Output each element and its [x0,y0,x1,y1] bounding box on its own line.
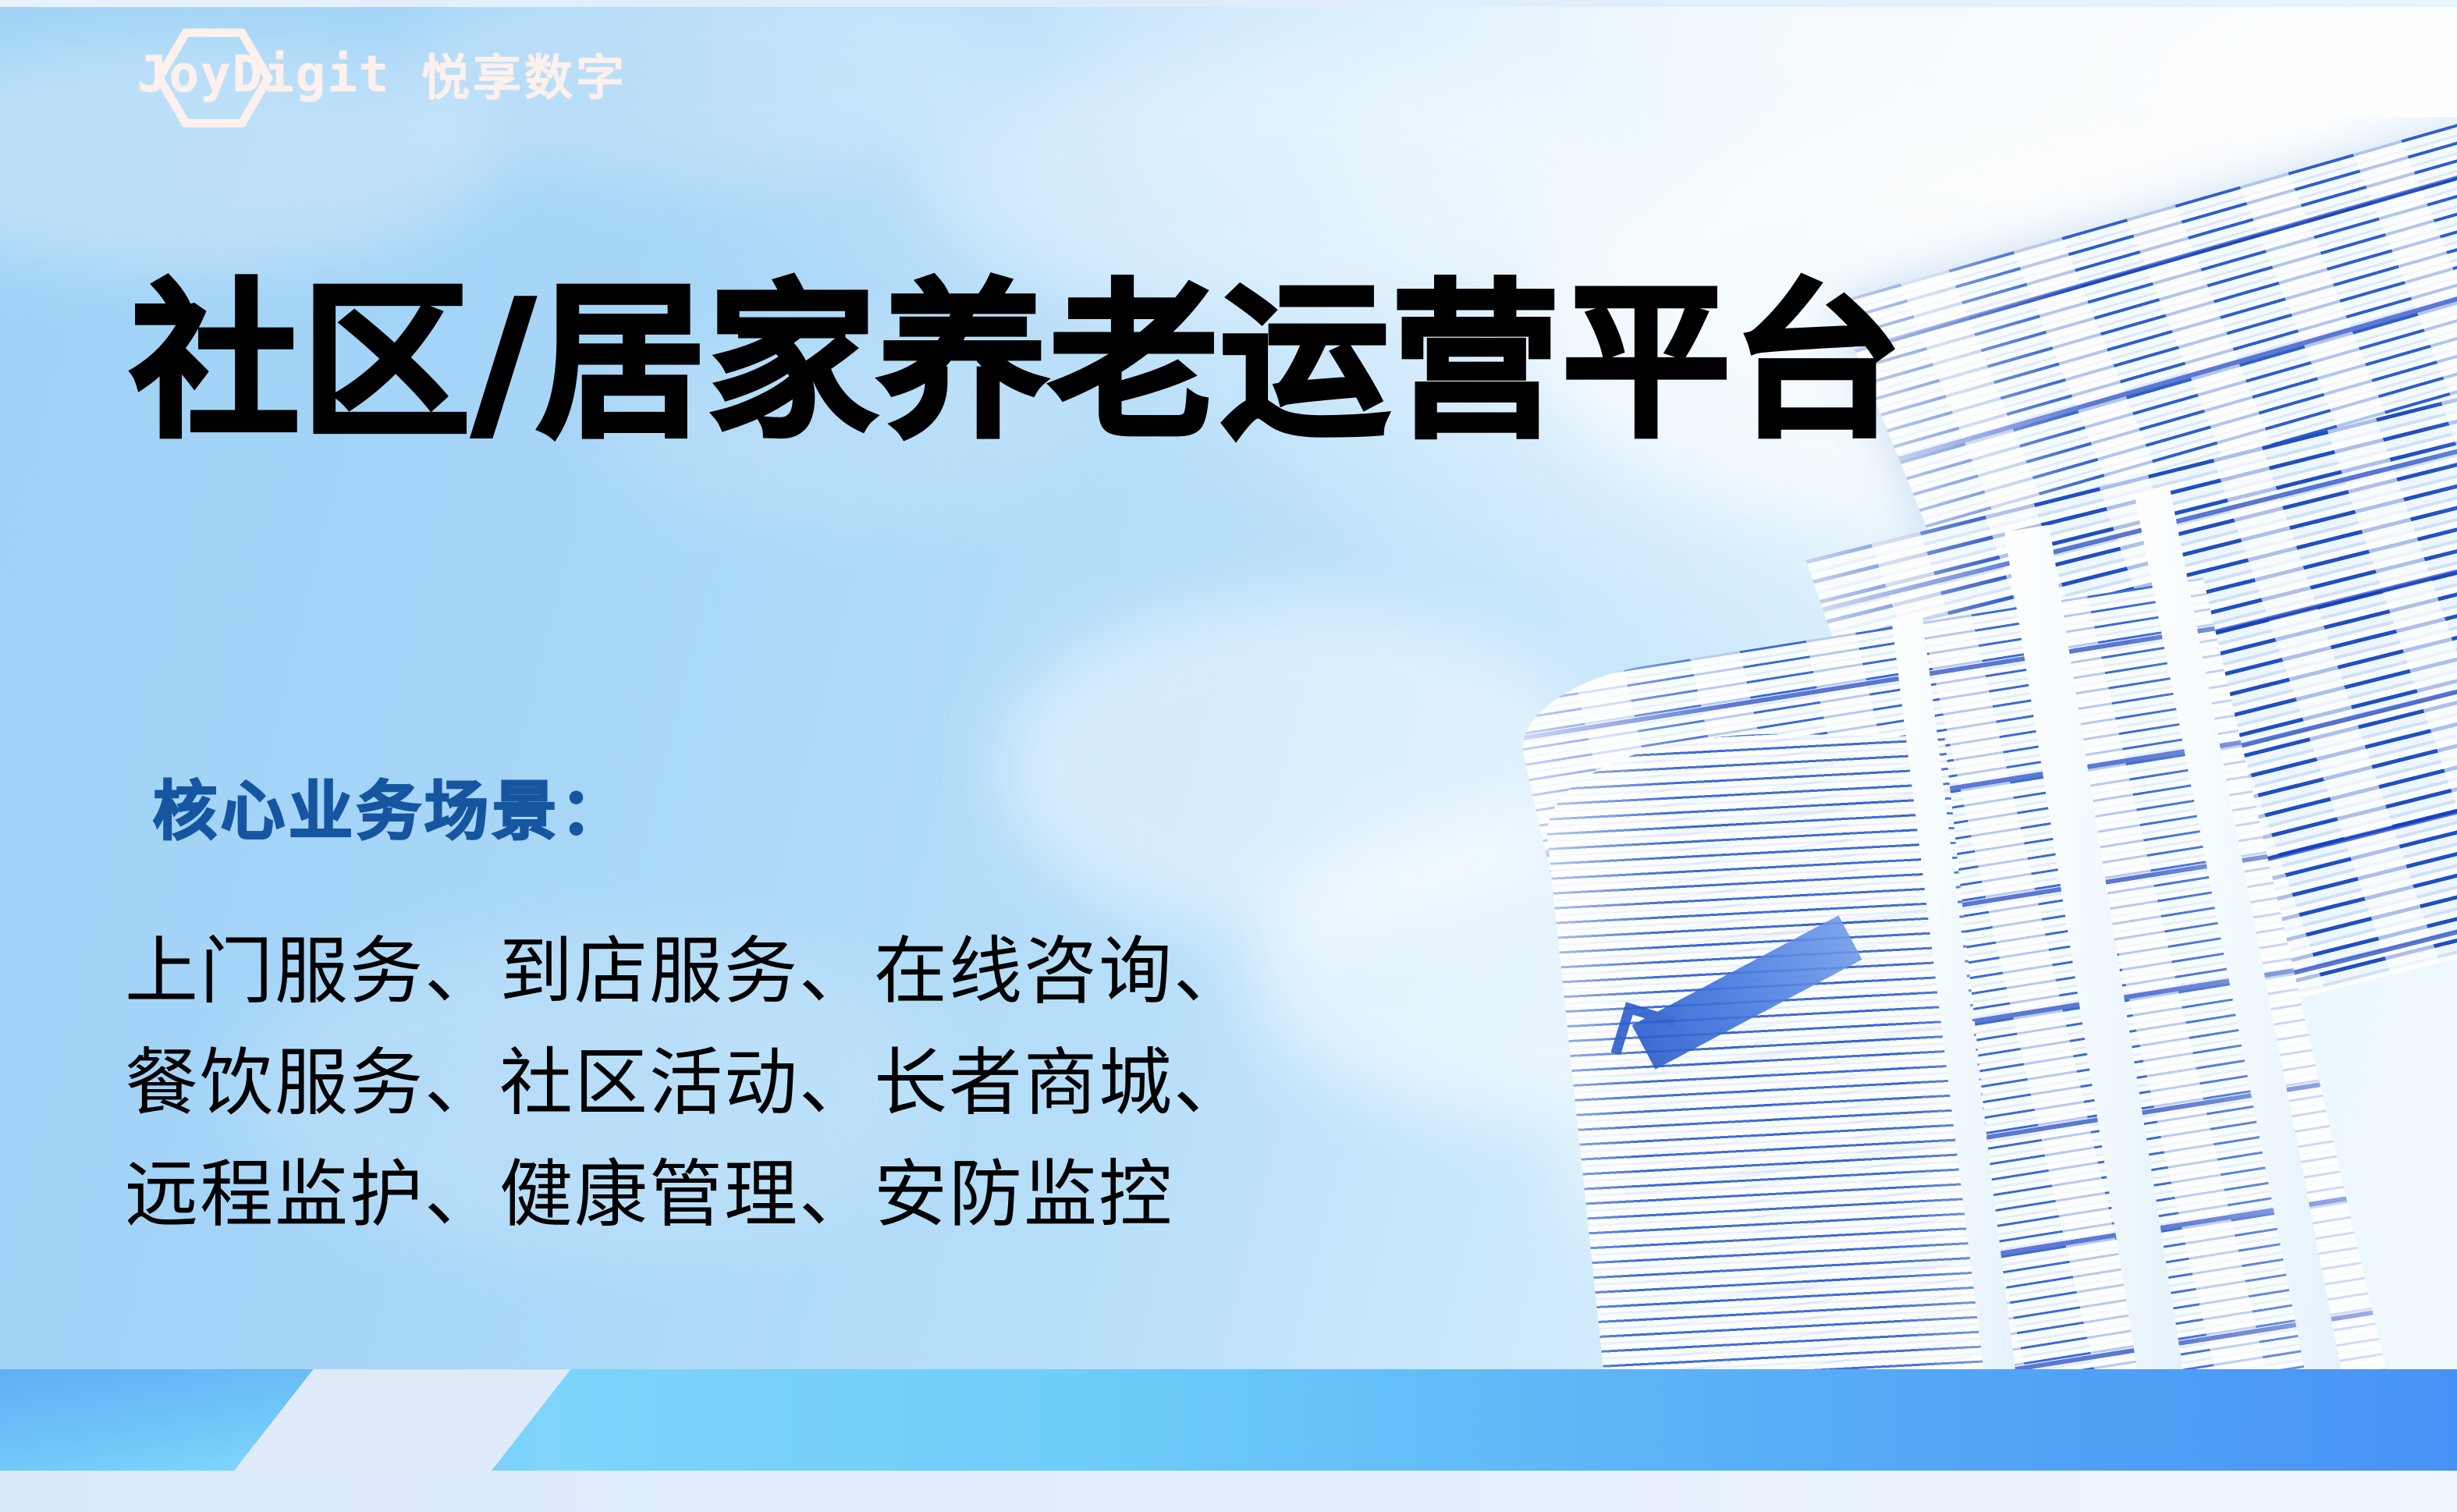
top-edge-strip [0,0,2457,7]
scene-line: 远程监护、健康管理、安防监控 [125,1140,1248,1251]
scene-list: 上门服务、到店服务、在线咨询、 餐饮服务、社区活动、长者商城、 远程监护、健康管… [125,917,1248,1251]
slide-canvas: JoyDigit 悦享数字 社区/居家养老运营平台 核心业务场景： 上门服务、到… [0,0,2457,1512]
brand-logo: JoyDigit 悦享数字 [137,30,627,126]
logo-mark: JoyDigit [137,30,399,126]
scene-line: 餐饮服务、社区活动、长者商城、 [125,1028,1248,1140]
page-title: 社区/居家养老运营平台 [131,275,1905,451]
logo-wordmark: JoyDigit [137,50,390,100]
section-label: 核心业务场景： [153,780,628,844]
logo-chinese-name: 悦享数字 [421,54,627,102]
scene-line: 上门服务、到店服务、在线咨询、 [125,917,1248,1028]
bottom-edge-strip [0,1471,2457,1512]
